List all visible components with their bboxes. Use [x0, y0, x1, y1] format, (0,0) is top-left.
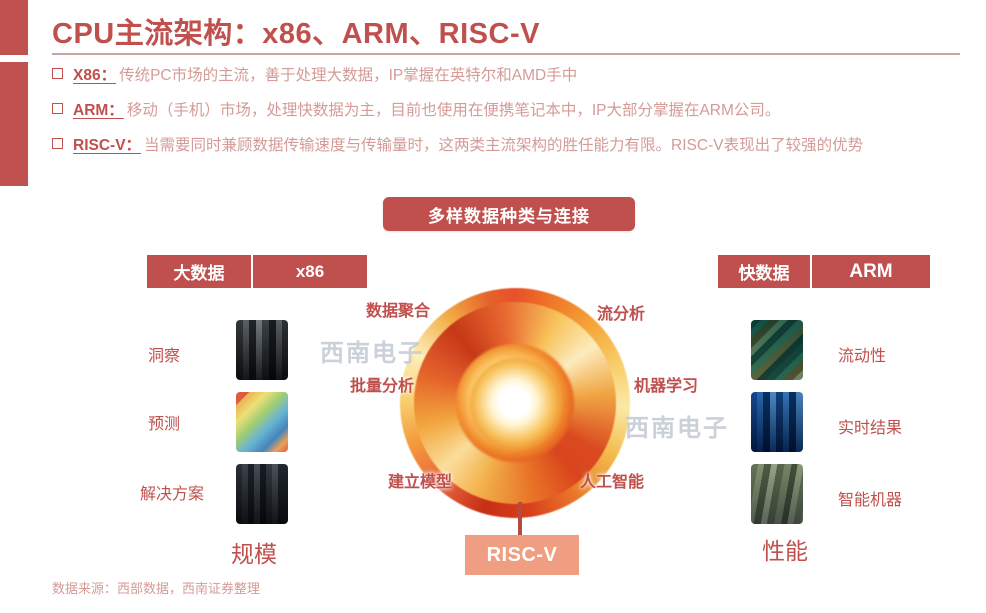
left-footer-label: 规模 [231, 535, 277, 569]
architecture-diagram: 多样数据种类与连接 大数据 x86 快数据 ARM 洞察 预测 解决方案 规模 … [0, 180, 986, 580]
spiral-label-ai: 人工智能 [580, 468, 644, 492]
thumbnail-smart-machine-image [751, 464, 803, 524]
left-item-label-1: 预测 [148, 410, 180, 434]
spiral-core-glow [470, 358, 562, 450]
bullet-square-icon [52, 103, 63, 114]
header-fast-data: 快数据 [718, 255, 810, 288]
thumbnail-forecast-image [236, 392, 288, 452]
bullet-text-x86: 传统PC市场的主流，善于处理大数据，IP掌握在英特尔和AMD手中 [119, 67, 577, 84]
diagram-top-banner: 多样数据种类与连接 [383, 197, 635, 231]
right-item-label-0: 流动性 [838, 342, 886, 366]
header-x86: x86 [253, 255, 367, 288]
left-item-label-0: 洞察 [148, 342, 180, 366]
slide-canvas: CPU主流架构：x86、ARM、RISC-V X86：传统PC市场的主流，善于处… [0, 0, 986, 613]
right-item-label-2: 智能机器 [838, 486, 902, 510]
title-underline [52, 53, 960, 55]
thumbnail-solution-image [236, 464, 288, 524]
spiral-label-data-aggregation: 数据聚合 [366, 297, 430, 321]
thumbnail-fluidity-image [751, 320, 803, 380]
thumbnail-insight-image [236, 320, 288, 380]
bullet-key-arm: ARM： [73, 102, 124, 119]
right-item-label-1: 实时结果 [838, 414, 902, 438]
accent-bar-top [0, 0, 28, 55]
spiral-label-modeling: 建立模型 [388, 468, 452, 492]
bullet-square-icon [52, 138, 63, 149]
source-footer: 数据来源：西部数据，西南证券整理 [52, 578, 260, 597]
bullet-key-riscv: RISC-V： [73, 137, 141, 154]
bullet-x86: X86：传统PC市场的主流，善于处理大数据，IP掌握在英特尔和AMD手中 [52, 68, 577, 84]
bullet-key-x86: X86： [73, 67, 116, 84]
result-box-riscv: RISC-V [465, 535, 579, 575]
spiral-label-stream-analysis: 流分析 [597, 300, 645, 324]
watermark-1: 西南电子 [320, 333, 424, 368]
spiral-label-machine-learning: 机器学习 [634, 372, 698, 396]
bullet-text-arm: 移动（手机）市场，处理快数据为主，目前也使用在便携笔记本中，IP大部分掌握在AR… [127, 102, 781, 119]
bullet-arm: ARM：移动（手机）市场，处理快数据为主，目前也使用在便携笔记本中，IP大部分掌… [52, 103, 780, 119]
spiral-label-batch-analysis: 批量分析 [350, 372, 414, 396]
accent-bar-bottom [0, 62, 28, 186]
left-item-label-2: 解决方案 [140, 480, 204, 504]
watermark-2: 西南电子 [625, 408, 729, 443]
page-title: CPU主流架构：x86、ARM、RISC-V [52, 10, 540, 52]
bullet-riscv: RISC-V：当需要同时兼顾数据传输速度与传输量时，这两类主流架构的胜任能力有限… [52, 138, 863, 154]
right-footer-label: 性能 [762, 532, 808, 566]
header-arm: ARM [812, 255, 930, 288]
thumbnail-realtime-image [751, 392, 803, 452]
header-big-data: 大数据 [147, 255, 251, 288]
bullet-text-riscv: 当需要同时兼顾数据传输速度与传输量时，这两类主流架构的胜任能力有限。RISC-V… [144, 137, 863, 154]
bullet-square-icon [52, 68, 63, 79]
